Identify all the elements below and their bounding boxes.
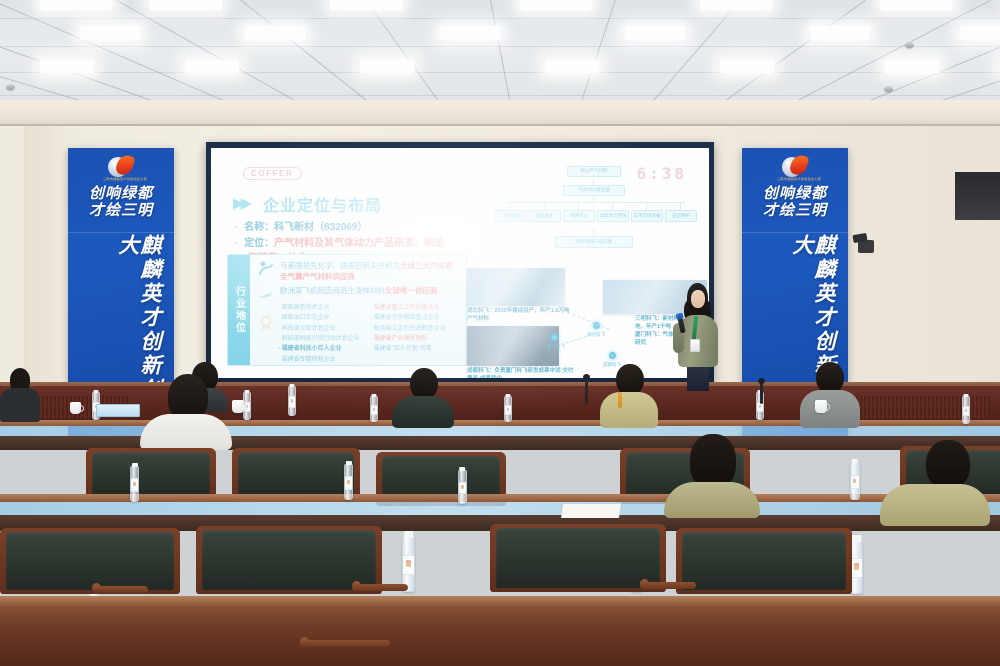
tree-line <box>578 202 579 210</box>
chair-back <box>6 532 174 590</box>
banner-logo: 三明市麒麟英才创新创业大赛 <box>775 156 815 182</box>
banner-logo-subtext: 三明市麒麟英才创新创业大赛 <box>103 177 147 181</box>
audience-member <box>880 440 990 524</box>
tree-node: 航空救生 <box>529 210 561 222</box>
industry-status-tab-label: 行业地位 <box>232 286 247 334</box>
industry-row-1-text: 与美国领先化学、德国巴斯夫并称为 <box>280 261 400 270</box>
banner-headline: 创响绿都 才绘三明 <box>68 186 174 220</box>
bottle-label <box>851 475 859 489</box>
desk-surface <box>0 606 1000 666</box>
chair-armrest <box>300 640 390 647</box>
industry-row-2-highlight: 全球唯一供应商 <box>385 286 438 295</box>
ceiling-light <box>245 26 305 40</box>
ceiling-light <box>625 26 685 40</box>
bottle-cap <box>505 394 510 397</box>
connector-line <box>561 333 596 345</box>
projection-screen: COFFER 6:38 ▶▶ 企业定位与布局 · 名称：科飞新材（832069）… <box>211 148 709 378</box>
tree-node: 军用等级装备 <box>631 210 663 222</box>
slide: COFFER 6:38 ▶▶ 企业定位与布局 · 名称：科飞新材（832069）… <box>211 148 709 378</box>
bottle-cap <box>132 463 138 467</box>
ceiling-light <box>150 0 222 10</box>
tree-line <box>593 194 594 202</box>
banner-divider <box>742 232 848 233</box>
bottle-cap <box>289 384 294 387</box>
smoke-detector-icon <box>905 42 914 48</box>
audience-member <box>800 362 860 426</box>
water-bottle <box>850 462 860 500</box>
ceiling-soffit <box>0 100 1000 126</box>
bottle-cap <box>852 459 858 463</box>
banner-headline-line2: 才绘三明 <box>742 203 848 220</box>
slide-title: 企业定位与布局 <box>263 192 382 216</box>
presenter-badge <box>690 339 700 352</box>
industry-status-tab: 行业地位 <box>228 255 250 365</box>
banner-headline: 创响绿都 才绘三明 <box>742 186 848 220</box>
industry-left-item: · 科技部科技兴贸行动计划企业 <box>278 334 364 344</box>
tea-cup <box>232 400 244 413</box>
bottle-cap <box>346 461 352 465</box>
wall-display-panel <box>955 172 1000 220</box>
airplane-icon <box>258 287 274 301</box>
ceiling-light <box>720 60 774 73</box>
tree-line <box>612 202 613 210</box>
water-bottle <box>344 464 353 500</box>
audience-member-suit <box>392 368 454 426</box>
audience-member-hoodie <box>140 374 232 444</box>
ceiling-light <box>700 0 772 10</box>
ceiling-light <box>80 26 140 40</box>
map-pin-xiamen <box>551 334 558 341</box>
banner-headline-line1: 创响绿都 <box>742 186 848 203</box>
desk-microphone <box>760 382 763 404</box>
industry-row-2-text: 欧洲某飞机制造商逃生滑梯材料 <box>280 286 385 295</box>
photo-chengdu-caption: 成都科飞：负责厦门科飞研发成果中试·交付量产·成果转化 <box>467 368 575 378</box>
ceiling-light <box>545 60 599 73</box>
bottle-label <box>131 478 138 492</box>
tea-cup <box>815 400 827 413</box>
tree-line <box>680 202 681 210</box>
bullet-2-value: 产气材料及其气体动力产品研发、制造 <box>274 238 444 249</box>
water-bottle <box>130 466 139 502</box>
ceiling-light <box>185 60 239 73</box>
chair-back <box>496 528 660 588</box>
person-torso <box>800 390 860 428</box>
banner-divider <box>68 232 174 233</box>
industry-status-panel: 行业地位 与美国领先化学、德国巴斯夫并称为全球三大汽车安全气囊产气材料供应商 欧… <box>227 254 467 366</box>
banner-headline-line2: 才绘三明 <box>68 203 174 220</box>
bullet-dot-icon: · <box>235 222 238 233</box>
name-card <box>96 404 140 417</box>
banner-logo-subtext: 三明市麒麟英才创新创业大赛 <box>777 177 821 181</box>
audience-member-woman <box>664 434 760 514</box>
award-icon <box>258 315 274 329</box>
map-pin-xiamen-label: 厦门科飞 <box>547 344 565 350</box>
person-torso <box>140 414 232 450</box>
water-bottle <box>288 386 296 416</box>
industry-row-2: 欧洲某飞机制造商逃生滑梯材料全球唯一供应商 <box>280 285 458 296</box>
wall-camera-icon <box>858 240 874 253</box>
bottle-label <box>963 406 969 417</box>
audience-member-khaki <box>600 364 658 426</box>
ceiling-light <box>885 60 939 73</box>
industry-right-item: · 税务局认定的先进制造企业 <box>370 324 462 334</box>
tree-line <box>593 175 594 185</box>
ceiling <box>0 0 1000 104</box>
person-torso <box>600 392 658 428</box>
smoke-detector-icon <box>6 84 15 90</box>
industry-right-item: · 福建省军民融合重点企业 <box>370 313 462 323</box>
tree-line <box>544 202 545 210</box>
bullet-dot-icon: · <box>235 238 238 249</box>
product-tree-diagram: 核心产气材料 气体动力发生器 汽车安全航空救生特种灭火高端清洁用线军用等级装备安… <box>489 166 699 252</box>
tree-node: 安全防护 <box>665 210 697 222</box>
chair-armrest <box>640 582 696 589</box>
industry-right-list: · 福建省重点上市后备企业· 福建省军民融合重点企业· 税务局认定的先进制造企业… <box>370 303 462 355</box>
bullet-1-value: 科飞新材（832069） <box>274 222 367 233</box>
water-bottle <box>504 396 512 422</box>
bottle-cap <box>371 394 376 397</box>
tree-line-horizontal <box>505 202 685 203</box>
person-head <box>690 434 736 488</box>
bottle-label <box>345 476 352 490</box>
industry-row-1: 与美国领先化学、德国巴斯夫并称为全球三大汽车安全气囊产气材料供应商 <box>280 260 456 283</box>
ceiling-light <box>960 26 1000 40</box>
bottle-cap <box>460 467 466 471</box>
map-pin-chengdu <box>609 352 616 359</box>
bottle-label <box>371 405 377 415</box>
bottle-label <box>851 558 862 578</box>
tree-line <box>510 202 511 210</box>
document-paper <box>561 504 621 518</box>
chair-back <box>238 452 354 498</box>
tree-node: 汽车安全 <box>495 210 527 222</box>
water-bottle <box>962 396 970 424</box>
ceiling-light <box>810 26 870 40</box>
bottle-cap <box>404 531 414 537</box>
person-torso <box>392 396 454 428</box>
bottle-cap <box>93 390 98 393</box>
ceiling-light <box>440 26 500 40</box>
industry-right-item: · 福建省产业领军团队 <box>370 334 462 344</box>
photo-hubei-kefei <box>467 268 565 306</box>
person-head <box>926 440 970 490</box>
ceiling-light <box>520 0 592 10</box>
bottle-cap <box>852 535 861 541</box>
tree-line <box>646 202 647 210</box>
industry-left-item: · 福建省专精特新企业 <box>278 355 364 365</box>
banner-headline-line1: 创响绿都 <box>68 186 174 203</box>
tree-node: 高端清洁用线 <box>597 210 629 222</box>
desk-edge <box>0 596 1000 606</box>
chair-back <box>682 532 846 590</box>
presenter <box>673 283 723 391</box>
ceiling-light <box>360 60 414 73</box>
industry-right-item: · 福建省"百人计划"名单 <box>370 344 462 354</box>
smoke-detector-icon <box>884 86 893 92</box>
tea-cup <box>70 402 81 414</box>
presenter-face <box>691 290 705 308</box>
photo-hubei-caption: 湖北科飞：2025年建成投产，年产1.6万吨产气材料 <box>467 308 571 324</box>
chair-back <box>202 530 376 590</box>
bottle-cap <box>244 390 249 393</box>
tree-bottom-node: 新兴领域产品开发 <box>555 236 633 248</box>
bottle-label <box>403 555 414 575</box>
chair-armrest <box>352 584 408 591</box>
slide-bullet-1: · 名称：科飞新材（832069） <box>235 218 368 233</box>
ceiling-light <box>330 0 402 10</box>
water-bottle <box>370 396 378 422</box>
lanyard <box>618 392 622 408</box>
industry-left-list: · 国家高新技术企业· 国家出口示范企业· 科技部火炬计划企业· 科技部科技兴贸… <box>278 303 364 365</box>
person-icon <box>258 261 274 275</box>
ceiling-grid <box>0 0 1000 104</box>
industry-left-item: · 国家出口示范企业 <box>278 313 364 323</box>
bottle-cap <box>963 394 968 397</box>
photo-chengdu-kefei <box>467 326 559 366</box>
person-torso <box>664 482 760 518</box>
conference-room-photo: COFFER 6:38 ▶▶ 企业定位与布局 · 名称：科飞新材（832069）… <box>0 0 1000 666</box>
chair-armrest <box>92 586 148 593</box>
banner-logo: 三明市麒麟英才创新创业大赛 <box>101 156 141 182</box>
bullet-2-label: 定位： <box>244 238 274 249</box>
bullet-1-label: 名称： <box>244 222 274 233</box>
person-torso <box>0 388 40 422</box>
slide-logo: COFFER <box>243 167 302 180</box>
ceiling-light <box>880 0 952 10</box>
desk-microphone <box>585 378 588 404</box>
presenter-legs <box>687 365 709 391</box>
title-arrow-icon: ▶▶ <box>233 194 248 212</box>
desk-surface <box>0 502 1000 515</box>
tree-level2-node: 气体动力发生器 <box>563 185 625 196</box>
chair-back <box>92 452 210 498</box>
tree-root-node: 核心产气材料 <box>567 166 621 177</box>
audience-member <box>0 368 40 422</box>
bottle-label <box>505 405 511 415</box>
person-torso <box>880 484 990 526</box>
bottle-label <box>459 482 466 495</box>
industry-left-item: · 国家高新技术企业 <box>278 303 364 313</box>
slide-bullet-2: · 定位：产气材料及其气体动力产品研发、制造 <box>235 234 444 249</box>
projection-screen-frame: COFFER 6:38 ▶▶ 企业定位与布局 · 名称：科飞新材（832069）… <box>206 142 714 384</box>
tree-node: 特种灭火 <box>563 210 595 222</box>
tree-line <box>593 228 594 236</box>
industry-left-item: · 科技部火炬计划企业 <box>278 324 364 334</box>
ceiling-light <box>40 0 112 10</box>
industry-left-item: · 福建省科技小巨人企业 <box>278 344 364 354</box>
ceiling-light <box>40 60 94 73</box>
bottle-label <box>289 396 295 408</box>
industry-right-item: · 福建省重点上市后备企业 <box>370 303 462 313</box>
water-bottle <box>458 470 467 504</box>
